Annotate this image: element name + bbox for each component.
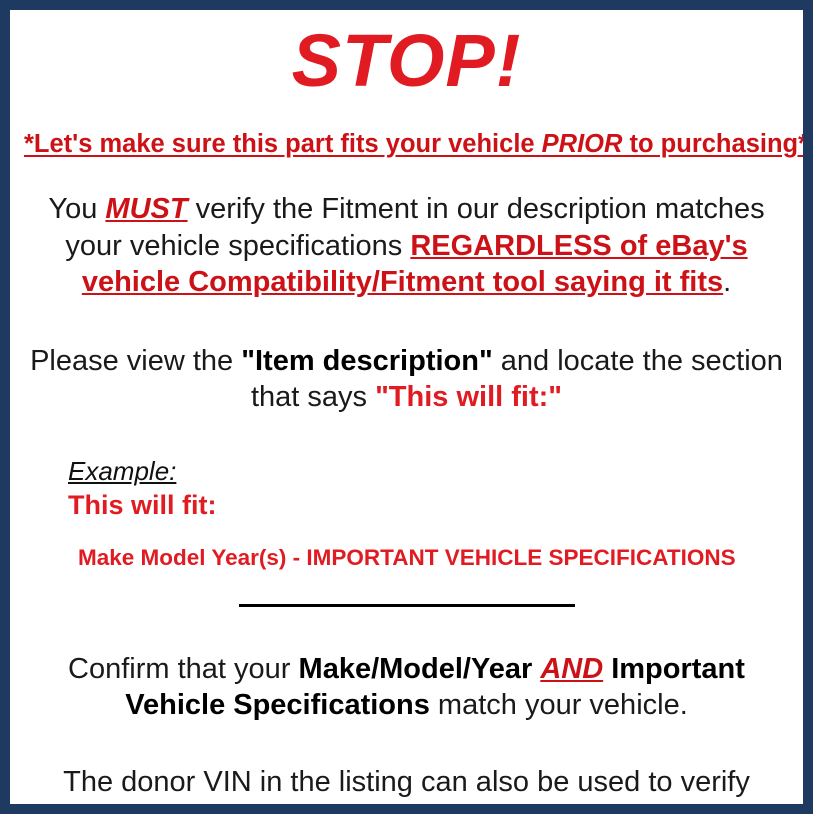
fitment-notice-card: STOP! *Let's make sure this part fits yo… [0,0,813,814]
subtitle-tail-text: to purchasing* [622,130,808,158]
must-emphasis: MUST [105,193,187,225]
section-divider-wrap [24,571,789,615]
make-model-year-emphasis: Make/Model/Year [299,653,533,685]
notice-content: STOP! *Let's make sure this part fits yo… [10,10,803,804]
confirm-seg1: Confirm that your [68,653,298,685]
item-description-emphasis: "Item description" [241,345,492,377]
subtitle-lead-text: *Let's make sure this part fits your veh… [24,130,542,158]
donor-vin-paragraph: The donor VIN in the listing can also be… [24,724,789,814]
example-fit-header: This will fit: [68,487,789,521]
must-paragraph-seg3: . [723,266,731,298]
subtitle-prior-emphasis: PRIOR [542,130,623,158]
please-paragraph-seg1: Please view the [30,345,241,377]
confirm-seg4: match your vehicle. [430,689,688,721]
section-divider [239,604,575,607]
example-label-row: Example: [68,456,789,487]
example-section: Example: This will fit: Make Model Year(… [24,416,789,571]
must-paragraph-seg1: You [48,193,105,225]
example-label: Example: [68,456,176,487]
example-spec-line: Make Model Year(s) - IMPORTANT VEHICLE S… [68,522,789,571]
this-will-fit-emphasis: "This will fit:" [375,381,562,413]
confirm-seg3 [603,653,611,685]
verify-fitment-subtitle: *Let's make sure this part fits your veh… [24,98,789,159]
and-emphasis: AND [540,653,603,685]
item-description-paragraph: Please view the "Item description" and l… [24,301,789,416]
stop-headline: STOP! [24,10,789,98]
confirm-paragraph: Confirm that your Make/Model/Year AND Im… [24,615,789,724]
must-verify-paragraph: You MUST verify the Fitment in our descr… [24,159,789,301]
